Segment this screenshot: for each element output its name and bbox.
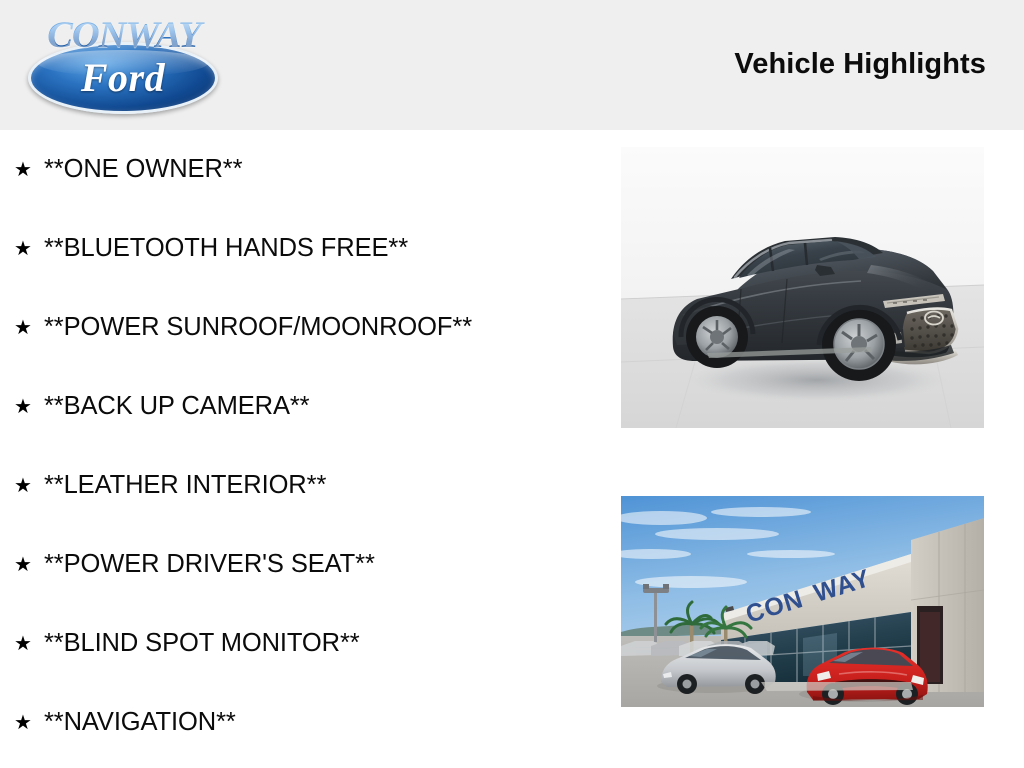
list-item: ★ **BLIND SPOT MONITOR**: [0, 604, 600, 683]
vehicle-highlights-page: CONWAY Ford Vehicle Highlights ★ **ONE O…: [0, 0, 1024, 768]
list-item-label: **POWER DRIVER'S SEAT**: [44, 550, 375, 579]
vehicle-photo: [621, 147, 984, 428]
list-item-label: **BLIND SPOT MONITOR**: [44, 629, 360, 658]
list-item-label: **BACK UP CAMERA**: [44, 392, 310, 421]
dealership-photo: CON WAY: [621, 496, 984, 707]
list-item: ★ **NAVIGATION**: [0, 683, 600, 762]
list-item-label: **BLUETOOTH HANDS FREE**: [44, 234, 408, 263]
star-icon: ★: [14, 239, 32, 259]
list-item-label: **POWER SUNROOF/MOONROOF**: [44, 313, 472, 342]
list-item: ★ **BACK UP CAMERA**: [0, 367, 600, 446]
list-item: ★ **POWER DRIVER'S SEAT**: [0, 525, 600, 604]
list-item: ★ **POWER SUNROOF/MOONROOF**: [0, 288, 600, 367]
star-icon: ★: [14, 318, 32, 338]
star-icon: ★: [14, 160, 32, 180]
star-icon: ★: [14, 555, 32, 575]
list-item-label: **LEATHER INTERIOR**: [44, 471, 326, 500]
star-icon: ★: [14, 476, 32, 496]
list-item: ★ **LEATHER INTERIOR**: [0, 446, 600, 525]
list-item-label: **ONE OWNER**: [44, 155, 242, 184]
list-item-label: **NAVIGATION**: [44, 708, 236, 737]
star-icon: ★: [14, 634, 32, 654]
vehicle-highlights-list: ★ **ONE OWNER** ★ **BLUETOOTH HANDS FREE…: [0, 130, 600, 762]
dealership-photo-graphic: CON WAY: [621, 496, 984, 707]
list-item: ★ **BLUETOOTH HANDS FREE**: [0, 209, 600, 288]
star-icon: ★: [14, 713, 32, 733]
page-header: CONWAY Ford Vehicle Highlights: [0, 0, 1024, 130]
list-item: ★ **ONE OWNER**: [0, 130, 600, 209]
page-title: Vehicle Highlights: [734, 48, 986, 81]
logo-ford-text: Ford: [28, 52, 218, 104]
conway-ford-logo: CONWAY Ford: [22, 14, 222, 114]
vehicle-photo-graphic: [621, 147, 984, 428]
star-icon: ★: [14, 397, 32, 417]
